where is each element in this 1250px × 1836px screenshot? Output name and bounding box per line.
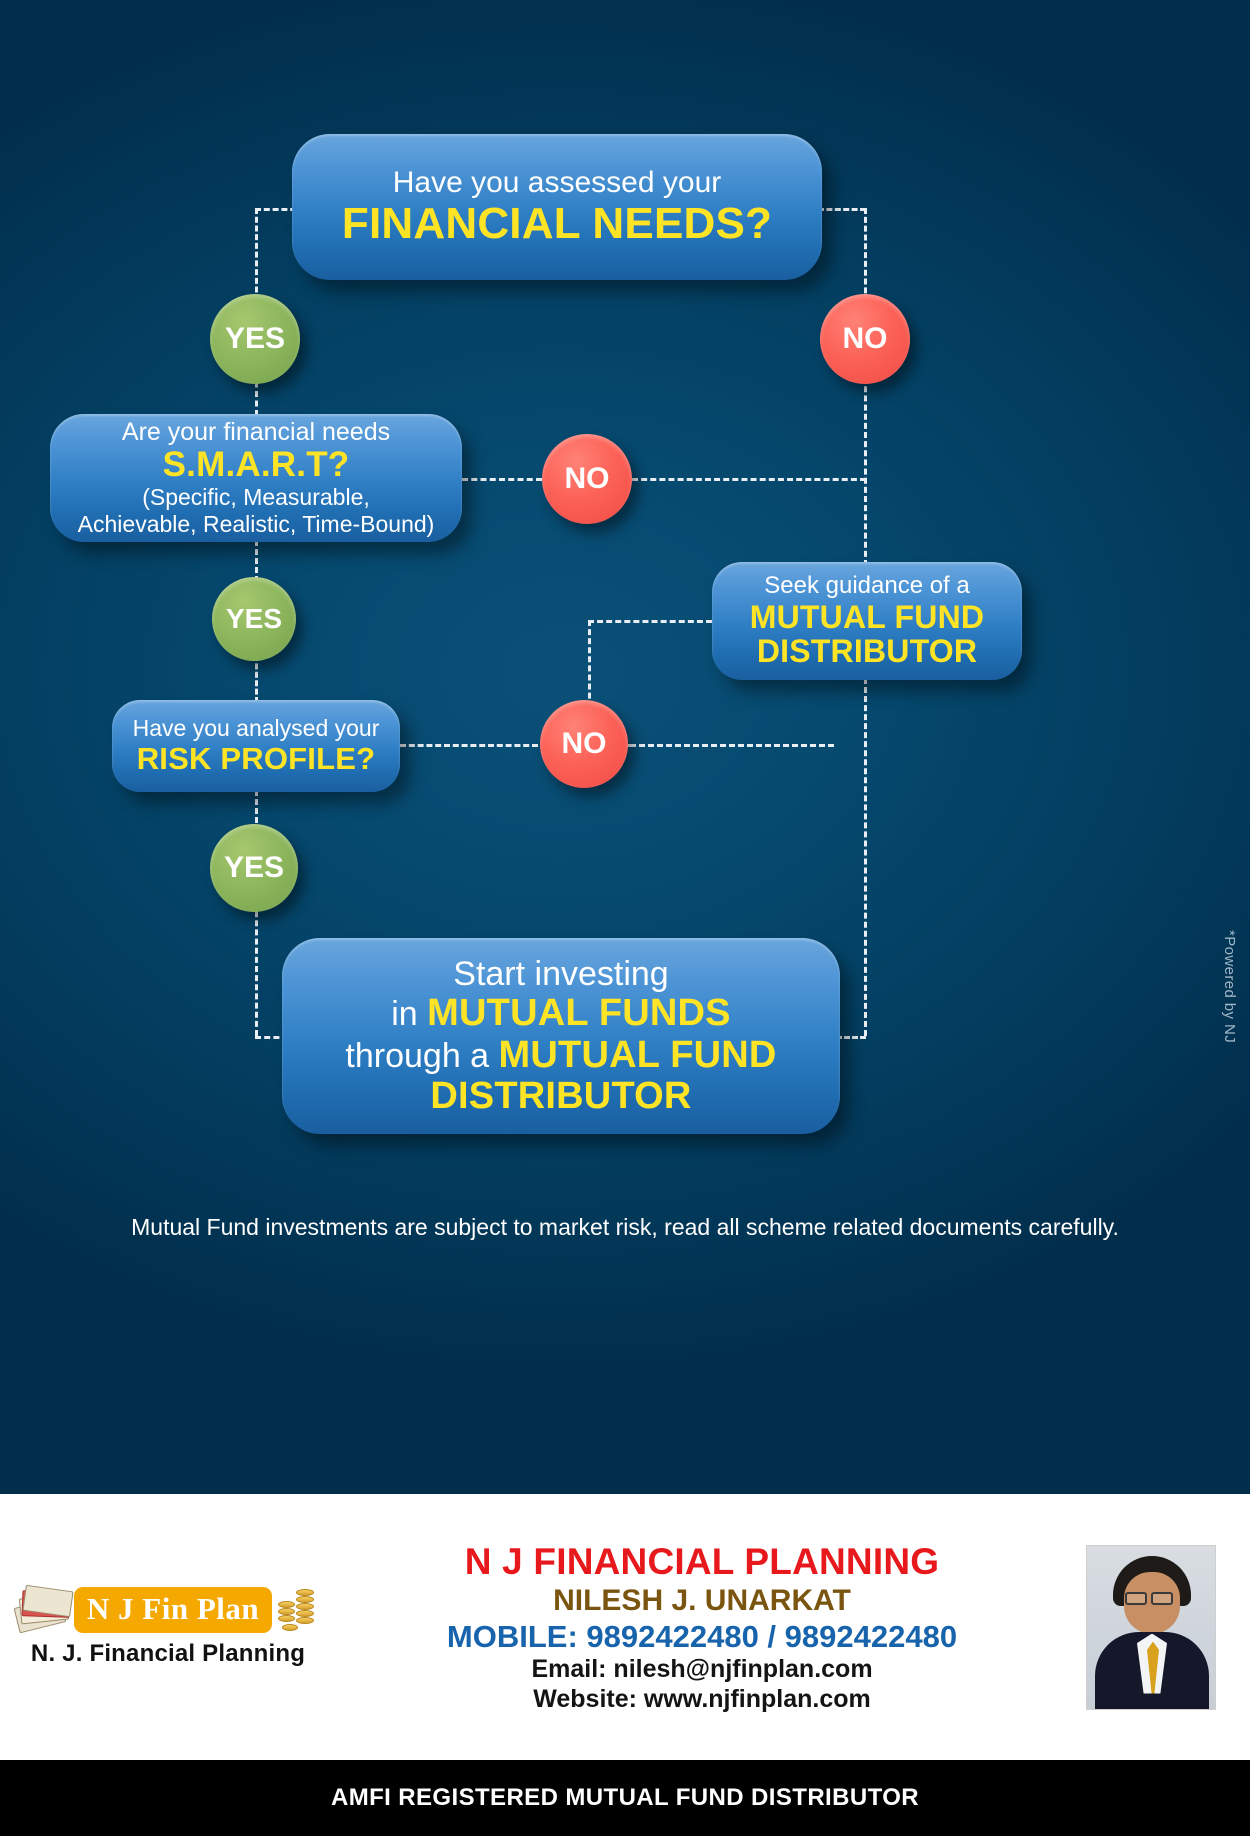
decision-yes-1[interactable]: YES xyxy=(210,294,300,384)
node-start-investing-line2-prefix: in xyxy=(391,995,427,1033)
node-start-investing-line4: DISTRIBUTOR xyxy=(430,1076,691,1117)
node-start-investing[interactable]: Start investing in MUTUAL FUNDS through … xyxy=(282,938,840,1134)
node-start-investing-line3-prefix: through a xyxy=(345,1037,498,1075)
decision-yes-1-label: YES xyxy=(225,322,285,356)
node-smart-line3: (Specific, Measurable, xyxy=(142,484,370,511)
email-address[interactable]: Email: nilesh@njfinplan.com xyxy=(318,1655,1086,1685)
node-seek-guidance[interactable]: Seek guidance of a MUTUAL FUND DISTRIBUT… xyxy=(712,562,1022,680)
node-start-investing-line2-accent: MUTUAL FUNDS xyxy=(427,992,731,1034)
node-risk-profile-line1: Have you analysed your xyxy=(133,716,380,742)
node-start-investing-line3-accent: MUTUAL FUND xyxy=(499,1034,777,1076)
connector-no3-to-riser xyxy=(630,744,834,747)
infographic-poster: Have you assessed your FINANCIAL NEEDS? … xyxy=(0,0,1250,1836)
node-financial-needs-line2: FINANCIAL NEEDS? xyxy=(342,200,772,248)
company-logo: N J Fin Plan N. J. Financial Planning xyxy=(18,1587,318,1668)
node-start-investing-line3: through a MUTUAL FUND xyxy=(345,1035,776,1076)
logo-main-row: N J Fin Plan xyxy=(16,1587,320,1633)
connector-no1-to-guidance xyxy=(864,368,867,566)
decision-yes-3-label: YES xyxy=(224,851,284,885)
node-risk-profile-line2: RISK PROFILE? xyxy=(137,742,376,775)
connector-no2-to-spine xyxy=(632,478,866,481)
powered-by-label: *Powered by NJ xyxy=(1221,930,1238,1043)
decision-no-3[interactable]: NO xyxy=(540,700,628,788)
node-smart-line2: S.M.A.R.T? xyxy=(163,446,350,484)
mobile-number[interactable]: MOBILE: 9892422480 / 9892422480 xyxy=(318,1619,1086,1656)
currency-notes-icon xyxy=(16,1588,70,1632)
node-start-investing-line2: in MUTUAL FUNDS xyxy=(391,993,730,1034)
decision-yes-3[interactable]: YES xyxy=(210,824,298,912)
node-financial-needs[interactable]: Have you assessed your FINANCIAL NEEDS? xyxy=(292,134,822,280)
connector-smart-to-no2 xyxy=(462,478,542,481)
connector-guidance-to-start xyxy=(864,678,867,1036)
logo-plate-text: N J Fin Plan xyxy=(74,1587,272,1633)
amfi-registration-band: AMFI REGISTERED MUTUAL FUND DISTRIBUTOR xyxy=(0,1760,1250,1836)
flowchart-area: Have you assessed your FINANCIAL NEEDS? … xyxy=(0,0,1250,1494)
connector-yes2-to-risk xyxy=(255,655,258,703)
node-seek-guidance-line2: MUTUAL FUND xyxy=(750,600,984,635)
logo-subtitle: N. J. Financial Planning xyxy=(31,1640,305,1668)
node-smart-line1: Are your financial needs xyxy=(122,418,390,446)
node-financial-needs-line1: Have you assessed your xyxy=(393,166,722,200)
decision-no-2[interactable]: NO xyxy=(542,434,632,524)
decision-no-1-label: NO xyxy=(843,322,888,356)
advisor-name: NILESH J. UNARKAT xyxy=(318,1583,1086,1618)
gold-coins-icon xyxy=(276,1587,320,1633)
website-url[interactable]: Website: www.njfinplan.com xyxy=(318,1685,1086,1715)
connector-top-box-right xyxy=(818,208,866,211)
firm-name: N J FINANCIAL PLANNING xyxy=(318,1540,1086,1584)
node-seek-guidance-line3: DISTRIBUTOR xyxy=(757,634,977,669)
node-risk-profile[interactable]: Have you analysed your RISK PROFILE? xyxy=(112,700,400,792)
connector-risk-to-no3 xyxy=(400,744,538,747)
node-seek-guidance-line1: Seek guidance of a xyxy=(764,573,970,600)
node-start-investing-line1: Start investing xyxy=(453,955,668,993)
connector-riser-top xyxy=(588,620,712,623)
decision-no-2-label: NO xyxy=(565,462,610,496)
contact-details: N J FINANCIAL PLANNING NILESH J. UNARKAT… xyxy=(318,1540,1086,1715)
footer-contact-band: N J Fin Plan N. J. Financial Planning N … xyxy=(0,1494,1250,1760)
node-smart[interactable]: Are your financial needs S.M.A.R.T? (Spe… xyxy=(50,414,462,542)
advisor-photo xyxy=(1086,1545,1216,1710)
disclaimer-text: Mutual Fund investments are subject to m… xyxy=(0,1214,1250,1241)
node-smart-line4: Achievable, Realistic, Time-Bound) xyxy=(78,511,435,538)
decision-no-1[interactable]: NO xyxy=(820,294,910,384)
connector-smart-to-yes2 xyxy=(255,540,258,582)
connector-yes3-to-start xyxy=(255,902,258,1036)
decision-no-3-label: NO xyxy=(562,727,607,761)
decision-yes-2[interactable]: YES xyxy=(212,577,296,661)
amfi-registration-text: AMFI REGISTERED MUTUAL FUND DISTRIBUTOR xyxy=(331,1784,919,1812)
decision-yes-2-label: YES xyxy=(226,603,282,635)
